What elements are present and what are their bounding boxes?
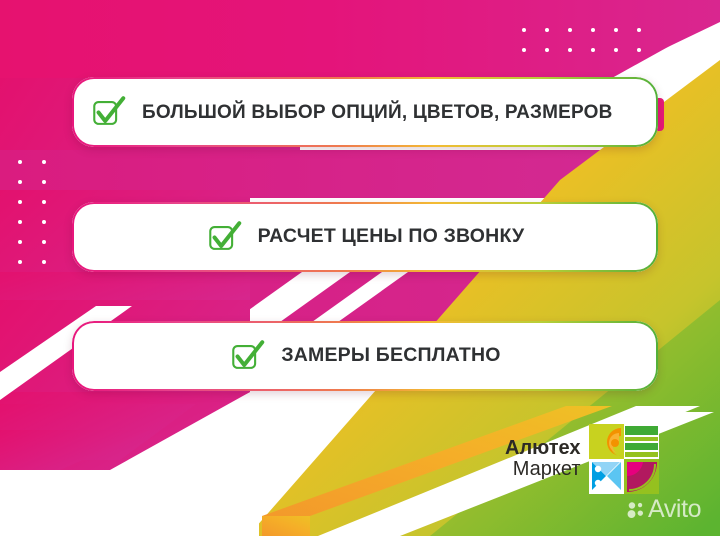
banner-canvas: БОЛЬШОЙ ВЫБОР ОПЦИЙ, ЦВЕТОВ, РАЗМЕРОВ РА…: [0, 0, 720, 536]
dot: [522, 48, 526, 52]
dot: [18, 200, 22, 204]
feature-card-2-label: РАСЧЕТ ЦЕНЫ ПО ЗВОНКУ: [258, 227, 525, 247]
avito-watermark: Avito: [627, 497, 701, 522]
dot: [18, 160, 22, 164]
dot: [42, 180, 46, 184]
brand-line-2: Маркет: [505, 459, 581, 480]
checkbox-check-icon: [206, 218, 244, 256]
feature-card-3: ЗАМЕРЫ БЕСПЛАТНО: [72, 321, 658, 391]
checkbox-check-icon: [229, 337, 267, 375]
dot: [591, 48, 595, 52]
brand-wordmark: Алютех Маркет: [505, 438, 581, 480]
avito-dots-icon: [627, 501, 645, 519]
dot: [18, 240, 22, 244]
dot-grid-top-right: [522, 28, 660, 68]
brand-logo: Алютех Маркет: [505, 424, 659, 494]
dot: [18, 180, 22, 184]
dot: [42, 220, 46, 224]
checkbox-check-icon: [90, 93, 128, 131]
dot: [637, 48, 641, 52]
dot: [18, 220, 22, 224]
dot: [522, 28, 526, 32]
dot: [614, 28, 618, 32]
dot: [42, 240, 46, 244]
brand-line-1: Алютех: [505, 438, 581, 459]
dot-grid-left: [18, 160, 66, 280]
avito-wordmark: Avito: [648, 497, 701, 522]
feature-card-1: БОЛЬШОЙ ВЫБОР ОПЦИЙ, ЦВЕТОВ, РАЗМЕРОВ: [72, 77, 658, 147]
dot: [637, 28, 641, 32]
dot: [42, 200, 46, 204]
feature-card-3-label: ЗАМЕРЫ БЕСПЛАТНО: [281, 346, 500, 366]
dot: [545, 28, 549, 32]
dot: [614, 48, 618, 52]
dot: [18, 260, 22, 264]
dot: [568, 48, 572, 52]
dot: [545, 48, 549, 52]
dot: [42, 160, 46, 164]
alutech-square-logo-icon: [589, 424, 659, 494]
feature-card-1-label: БОЛЬШОЙ ВЫБОР ОПЦИЙ, ЦВЕТОВ, РАЗМЕРОВ: [142, 103, 613, 122]
dot: [591, 28, 595, 32]
dot: [568, 28, 572, 32]
dot: [42, 260, 46, 264]
feature-card-2: РАСЧЕТ ЦЕНЫ ПО ЗВОНКУ: [72, 202, 658, 272]
